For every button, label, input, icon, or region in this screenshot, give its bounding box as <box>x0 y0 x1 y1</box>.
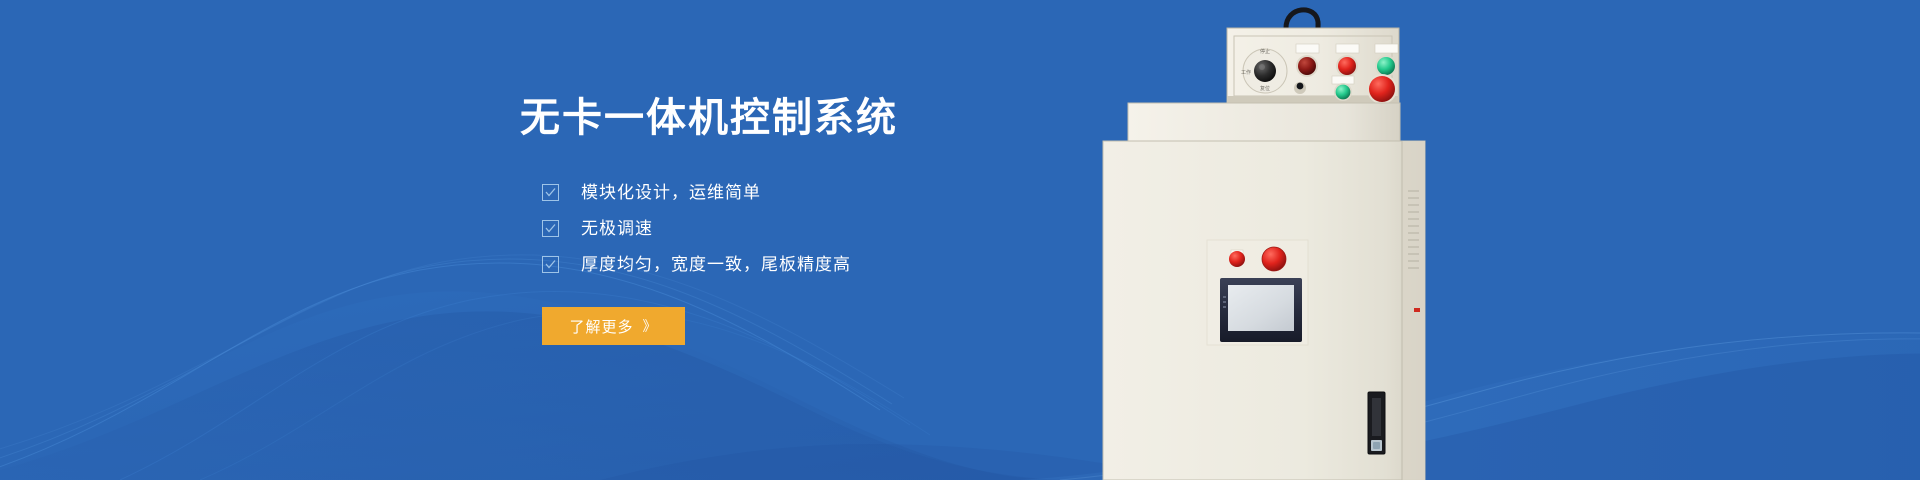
door-handle <box>1368 392 1385 454</box>
hero-banner: 无卡一体机控制系统 模块化设计，运维简单 无极调速 <box>0 0 1920 480</box>
learn-more-label: 了解更多 <box>569 316 633 337</box>
svg-text:复位: 复位 <box>1260 85 1270 92</box>
list-item: 无极调速 <box>542 220 1160 237</box>
indicator-green-1 <box>1375 44 1398 77</box>
indicator-red-2 <box>1336 44 1359 77</box>
cabinet-button-red-small <box>1229 250 1245 267</box>
double-chevron-right-icon: 》 <box>643 319 658 333</box>
indicator-red-1 <box>1296 44 1319 77</box>
cabinet-top-cap <box>1128 103 1400 141</box>
list-item: 厚度均匀，宽度一致，尾板精度高 <box>542 256 1160 273</box>
page-title: 无卡一体机控制系统 <box>520 96 1160 140</box>
banner-copy: 无卡一体机控制系统 模块化设计，运维简单 无极调速 <box>520 96 1160 345</box>
learn-more-button[interactable]: 了解更多 》 <box>542 307 685 345</box>
control-cabinet-image: 停止 工作 复位 <box>1100 0 1520 480</box>
svg-text:工作: 工作 <box>1241 69 1251 76</box>
svg-text:停止: 停止 <box>1260 48 1270 55</box>
feature-label: 厚度均匀，宽度一致，尾板精度高 <box>581 256 851 273</box>
cta-container: 了解更多 》 <box>520 307 1160 345</box>
feature-label: 模块化设计，运维简单 <box>581 184 761 201</box>
list-item: 模块化设计，运维简单 <box>542 184 1160 201</box>
checkbox-checked-icon <box>542 184 559 201</box>
indicator-red-large <box>1367 74 1397 104</box>
checkbox-checked-icon <box>542 256 559 273</box>
edge-marker <box>1414 308 1420 312</box>
hmi-touchscreen <box>1220 278 1302 342</box>
feature-list: 模块化设计，运维简单 无极调速 厚度均匀，宽度一致，尾板精度高 <box>520 184 1160 273</box>
feature-label: 无极调速 <box>581 220 653 237</box>
cabinet-button-red-large <box>1262 247 1286 271</box>
top-control-box: 停止 工作 复位 <box>1227 28 1399 104</box>
small-toggle-switch <box>1294 82 1306 94</box>
checkbox-checked-icon <box>542 220 559 237</box>
